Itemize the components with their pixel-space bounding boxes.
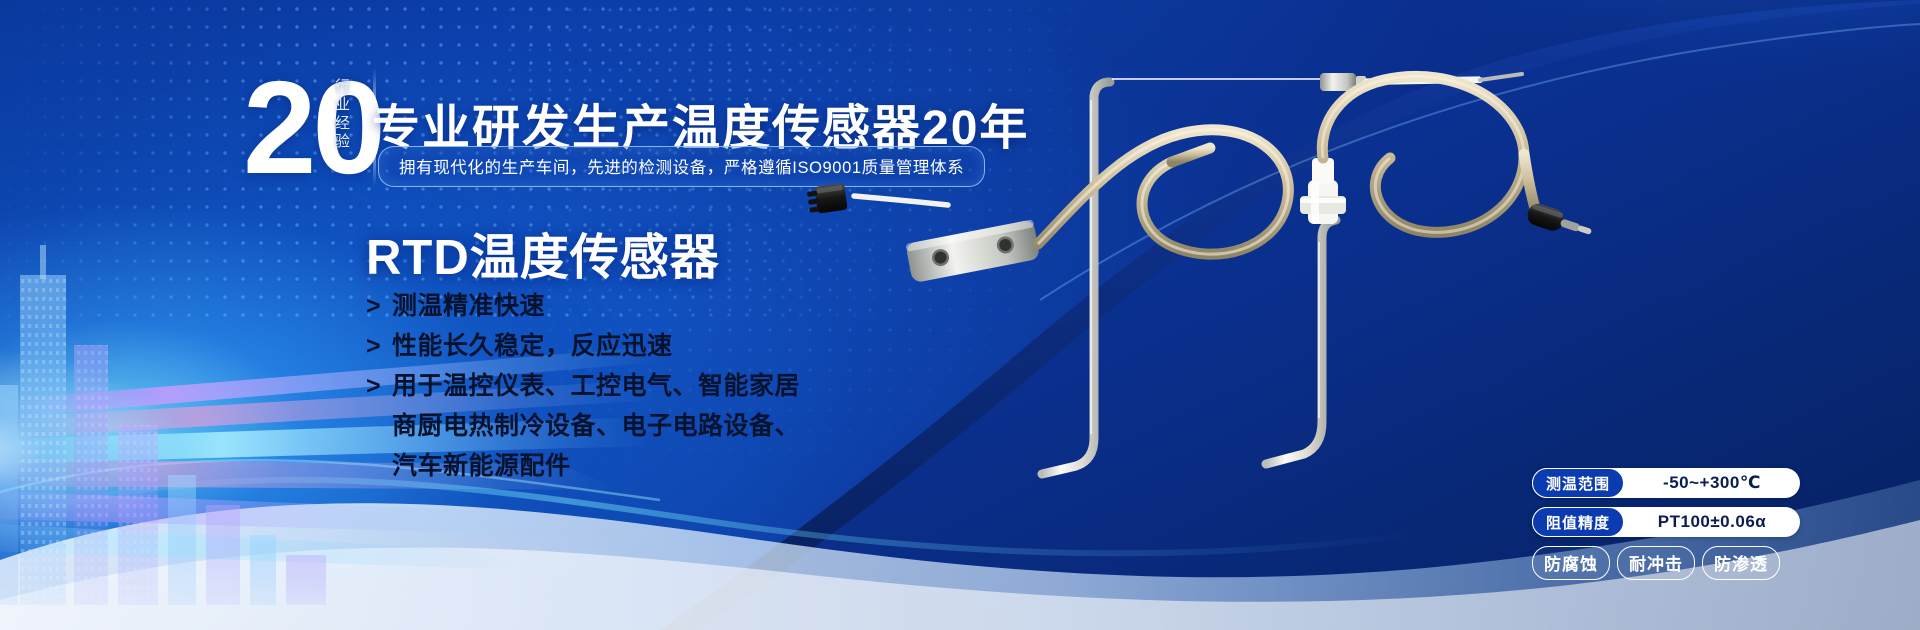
spec-value: PT100±0.06α <box>1624 512 1800 532</box>
emblem-side-text: 行业经验 <box>330 78 356 151</box>
list-item-text: 用于温控仪表、工控电气、智能家居 <box>392 366 800 406</box>
feature-list: > 测温精准快速 > 性能长久稳定，反应迅速 > 用于温控仪表、工控电气、智能家… <box>366 286 800 486</box>
spec-badge-resistance-accuracy: 阻值精度 PT100±0.06α <box>1532 507 1800 537</box>
list-item: > 用于温控仪表、工控电气、智能家居 <box>366 366 800 406</box>
promo-banner: 20 行业经验 专业研发生产温度传感器20年 拥有现代化的生产车间，先进的检测设… <box>0 0 1920 630</box>
list-item-text: 商厨电热制冷设备、电子电路设备、 <box>366 406 800 446</box>
list-item: > 性能长久稳定，反应迅速 <box>366 326 800 366</box>
feature-tag-group: 防腐蚀 耐冲击 防渗透 <box>1532 546 1832 580</box>
spec-label: 测温范围 <box>1532 468 1624 498</box>
list-item: > 测温精准快速 <box>366 286 800 326</box>
bullet-marker-icon: > <box>366 286 392 326</box>
product-title: RTD温度传感器 <box>366 218 720 289</box>
bullet-marker-icon: > <box>366 326 392 366</box>
bullet-marker-icon: > <box>366 366 392 406</box>
spec-badge-temperature-range: 测温范围 -50~+300℃ <box>1532 468 1800 498</box>
product-image <box>780 30 1640 550</box>
feature-tag-impact-resistant: 耐冲击 <box>1617 546 1695 580</box>
spec-label: 阻值精度 <box>1532 507 1624 537</box>
list-item-text: 测温精准快速 <box>392 286 545 326</box>
spec-value: -50~+300℃ <box>1624 473 1800 493</box>
feature-tag-anticorrosion: 防腐蚀 <box>1532 546 1610 580</box>
list-item-text: 汽车新能源配件 <box>366 446 800 486</box>
spec-badge-group: 测温范围 -50~+300℃ 阻值精度 PT100±0.06α 防腐蚀 耐冲击 … <box>1532 468 1832 580</box>
feature-tag-waterproof: 防渗透 <box>1702 546 1780 580</box>
list-item-text: 性能长久稳定，反应迅速 <box>392 326 673 366</box>
